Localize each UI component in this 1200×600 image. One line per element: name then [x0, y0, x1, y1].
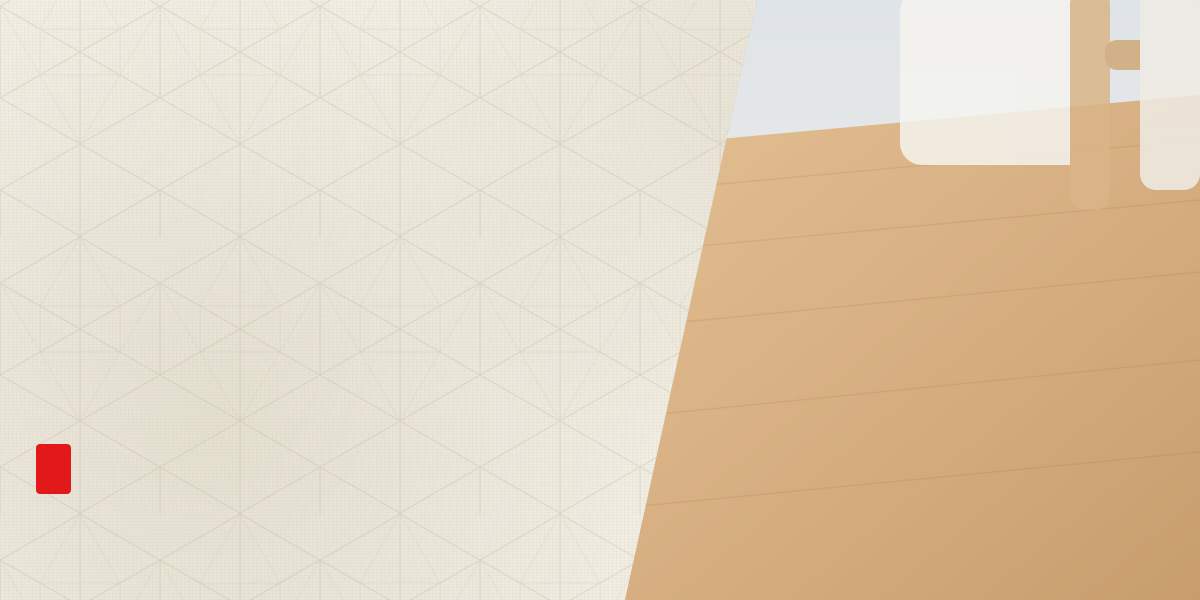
- nikkei-logo: [36, 443, 296, 500]
- poster-content: [36, 0, 596, 600]
- event-poster: [0, 0, 1200, 600]
- logo-top-row: [36, 443, 296, 495]
- meta-row: [38, 285, 598, 345]
- event-meta: [38, 285, 598, 345]
- page-title: [36, 126, 42, 200]
- nikkei-kanji-mark-icon: [36, 444, 71, 494]
